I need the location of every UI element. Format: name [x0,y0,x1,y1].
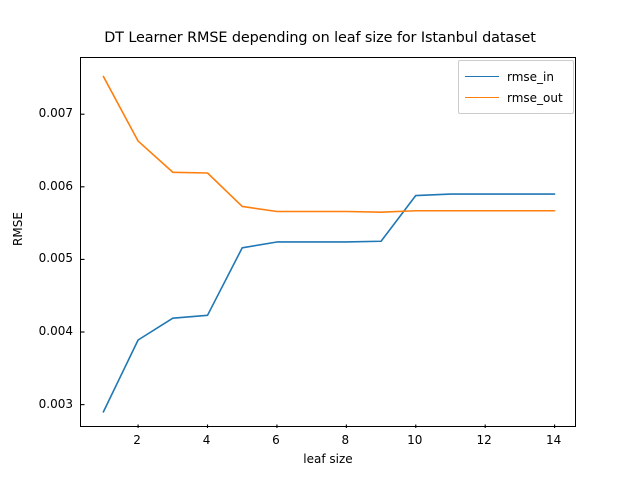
y-tick-label: 0.005 [3,251,73,265]
data-series-group [103,76,554,411]
chart-title: DT Learner RMSE depending on leaf size f… [0,30,640,46]
legend-swatch-rmse_in [465,76,499,77]
chart-legend[interactable]: rmse_inrmse_out [458,60,574,114]
x-tick-label: 14 [524,433,584,447]
x-tick-label: 12 [454,433,514,447]
legend-label: rmse_in [507,70,554,84]
x-axis-label: leaf size [80,452,576,466]
y-axis-ticks [81,114,85,404]
y-tick-label: 0.006 [3,179,73,193]
x-tick-label: 8 [315,433,375,447]
figure-canvas: DT Learner RMSE depending on leaf size f… [0,0,640,480]
y-tick-label: 0.003 [3,397,73,411]
x-tick-label: 6 [246,433,306,447]
x-axis-tick-labels: 2468101214 [0,433,640,453]
y-tick-label: 0.007 [3,106,73,120]
legend-item-rmse_out[interactable]: rmse_out [465,87,567,108]
legend-swatch-rmse_out [465,97,499,98]
y-tick-label: 0.004 [3,324,73,338]
x-tick-label: 10 [385,433,445,447]
y-axis-tick-labels: 0.0030.0040.0050.0060.007 [0,0,73,480]
legend-item-rmse_in[interactable]: rmse_in [465,66,567,87]
x-tick-label: 2 [107,433,167,447]
legend-label: rmse_out [507,91,563,105]
x-axis-ticks [138,425,555,429]
x-tick-label: 4 [177,433,237,447]
series-line-rmse_in [103,194,554,412]
